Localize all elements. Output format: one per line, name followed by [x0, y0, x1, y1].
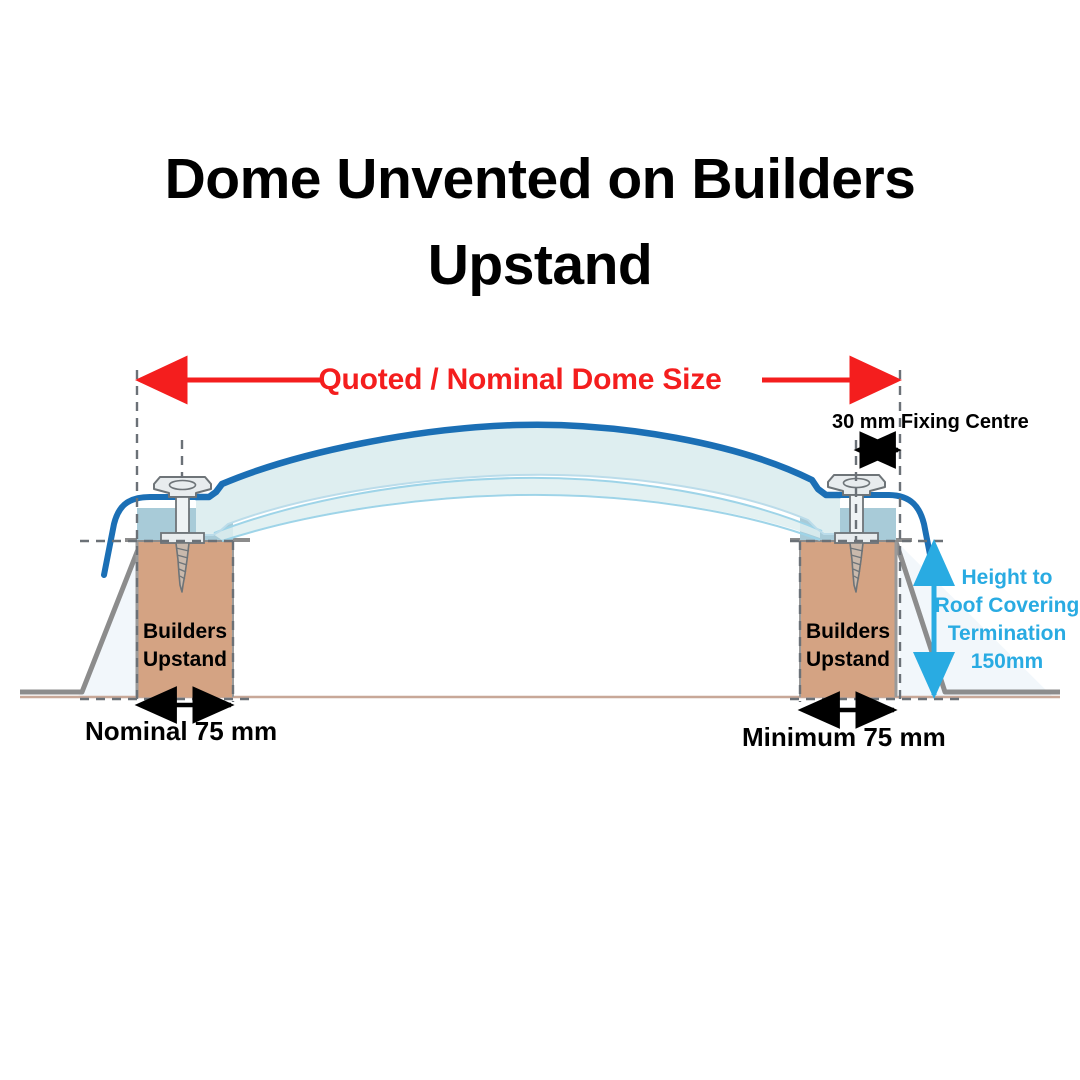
label-fixing-centre: 30 mm Fixing Centre: [832, 411, 1029, 434]
label-upstand-right-line-2: Upstand: [800, 646, 896, 674]
diagram-canvas: Dome Unvented on Builders Upstand: [0, 0, 1080, 1080]
label-builders-upstand-right: Builders Upstand: [800, 618, 896, 674]
dome-glazing: [196, 425, 840, 541]
label-height-to-roof-covering: Height to Roof Covering Termination 150m…: [932, 564, 1080, 676]
label-builders-upstand-left: Builders Upstand: [137, 618, 233, 674]
label-upstand-left-line-1: Builders: [137, 618, 233, 646]
label-height-line-3: Termination: [932, 620, 1080, 648]
label-quoted-nominal-dome-size: Quoted / Nominal Dome Size: [280, 363, 760, 397]
screw-shaft-left: [176, 497, 189, 533]
label-nominal-75mm: Nominal 75 mm: [85, 716, 277, 747]
label-upstand-left-line-2: Upstand: [137, 646, 233, 674]
label-height-line-4: 150mm: [932, 648, 1080, 676]
label-upstand-right-line-1: Builders: [800, 618, 896, 646]
label-height-line-1: Height to: [932, 564, 1080, 592]
rooflight-section-drawing: [0, 0, 1080, 1080]
label-minimum-75mm: Minimum 75 mm: [742, 722, 946, 753]
label-height-line-2: Roof Covering: [932, 592, 1080, 620]
